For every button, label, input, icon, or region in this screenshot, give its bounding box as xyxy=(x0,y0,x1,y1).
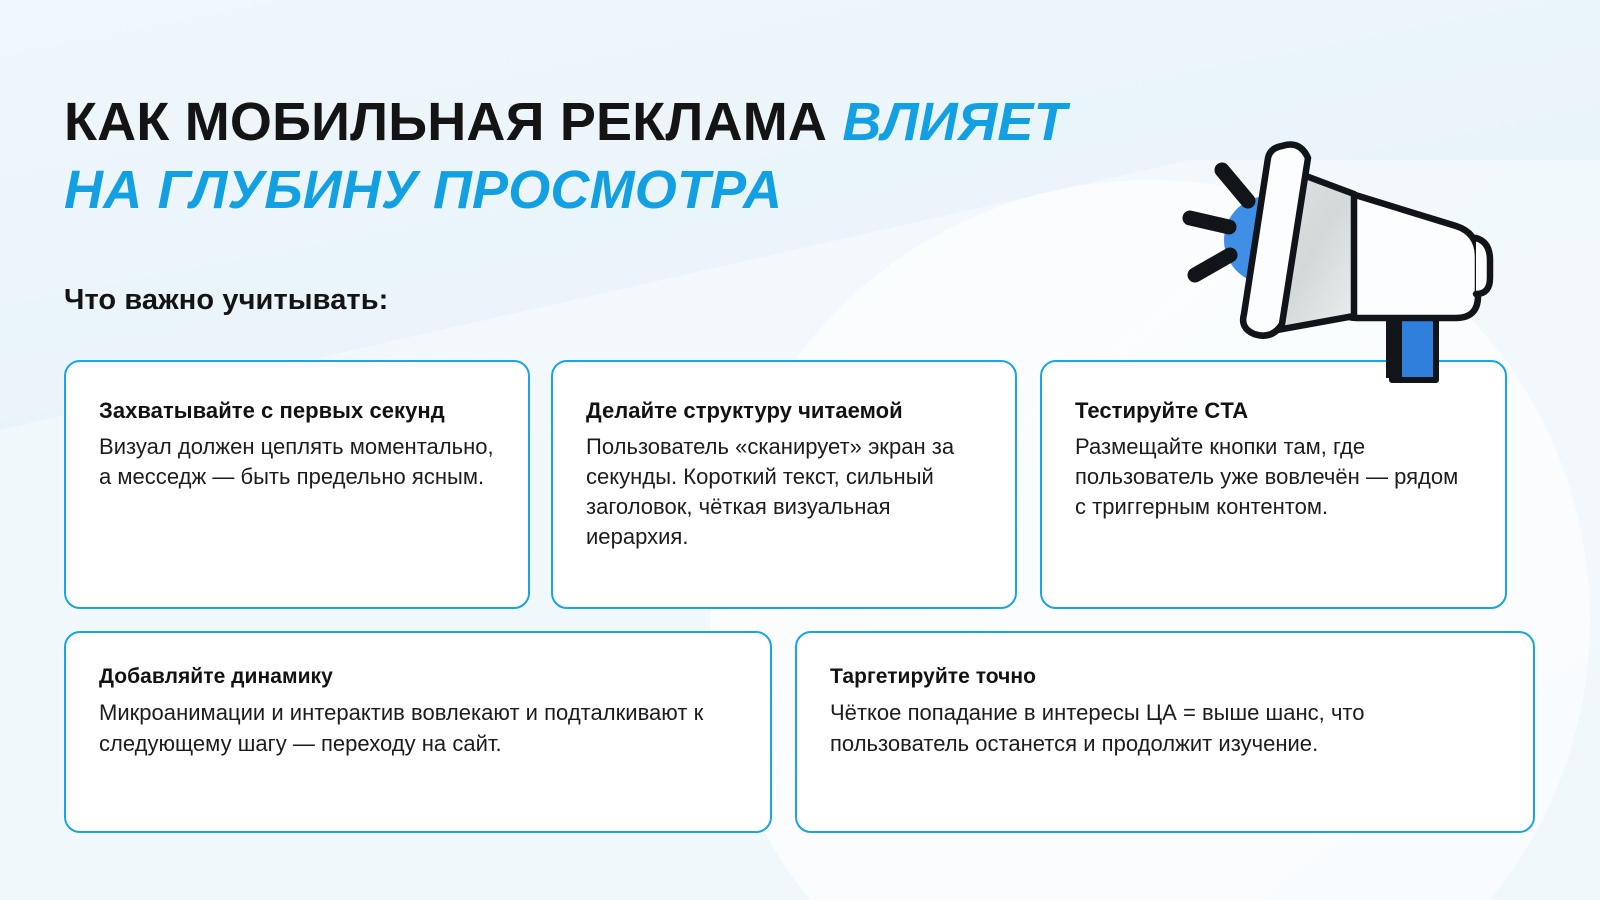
card-content: Тестируйте CTA Размещайте кнопки там, гд… xyxy=(1042,362,1505,550)
tip-card-precise-targeting[interactable]: Таргетируйте точно Чёткое попадание в ин… xyxy=(795,631,1535,833)
infographic-stage: КАК МОБИЛЬНАЯ РЕКЛАМА ВЛИЯЕТ НА ГЛУБИНУ … xyxy=(0,0,1600,900)
card-body: Пользователь «сканирует» экран за секунд… xyxy=(586,432,983,552)
card-content: Захватывайте с первых секунд Визуал долж… xyxy=(66,362,528,520)
card-title: Таргетируйте точно xyxy=(830,663,1501,691)
megaphone-illustration xyxy=(1140,118,1500,380)
card-title: Захватывайте с первых секунд xyxy=(99,396,496,425)
tip-card-readable-structure[interactable]: Делайте структуру читаемой Пользователь … xyxy=(551,360,1017,609)
page-title: КАК МОБИЛЬНАЯ РЕКЛАМА ВЛИЯЕТ НА ГЛУБИНУ … xyxy=(64,88,1184,224)
sound-ray-middle xyxy=(1190,218,1229,227)
card-title: Делайте структуру читаемой xyxy=(586,396,983,425)
megaphone-side-button xyxy=(1476,238,1490,294)
card-content: Делайте структуру читаемой Пользователь … xyxy=(553,362,1015,580)
headline-line-1: КАК МОБИЛЬНАЯ РЕКЛАМА ВЛИЯЕТ xyxy=(64,88,1184,156)
card-content: Таргетируйте точно Чёткое попадание в ин… xyxy=(797,633,1533,783)
card-body: Визуал должен цеплять моментально, а мес… xyxy=(99,432,496,492)
headline-emphasis-text: ВЛИЯЕТ xyxy=(842,92,1067,152)
tip-card-capture-first-seconds[interactable]: Захватывайте с первых секунд Визуал долж… xyxy=(64,360,530,609)
card-title: Добавляйте динамику xyxy=(99,663,738,691)
card-content: Добавляйте динамику Микроанимации и инте… xyxy=(66,633,770,783)
headline-plain-text: КАК МОБИЛЬНАЯ РЕКЛАМА xyxy=(64,92,842,152)
headline-line-2: НА ГЛУБИНУ ПРОСМОТРА xyxy=(64,156,1184,224)
card-body: Чёткое попадание в интересы ЦА = выше ша… xyxy=(830,697,1501,759)
card-title: Тестируйте CTA xyxy=(1075,396,1473,425)
tip-card-test-cta[interactable]: Тестируйте CTA Размещайте кнопки там, гд… xyxy=(1040,360,1507,609)
card-body: Микроанимации и интерактив вовлекают и п… xyxy=(99,697,738,759)
sound-ray-top xyxy=(1222,170,1248,201)
sound-ray-bottom xyxy=(1195,255,1230,275)
subheading: Что важно учитывать: xyxy=(64,284,388,317)
tip-card-add-dynamics[interactable]: Добавляйте динамику Микроанимации и инте… xyxy=(64,631,772,833)
megaphone-body xyxy=(1340,193,1478,318)
card-body: Размещайте кнопки там, где пользователь … xyxy=(1075,432,1473,522)
